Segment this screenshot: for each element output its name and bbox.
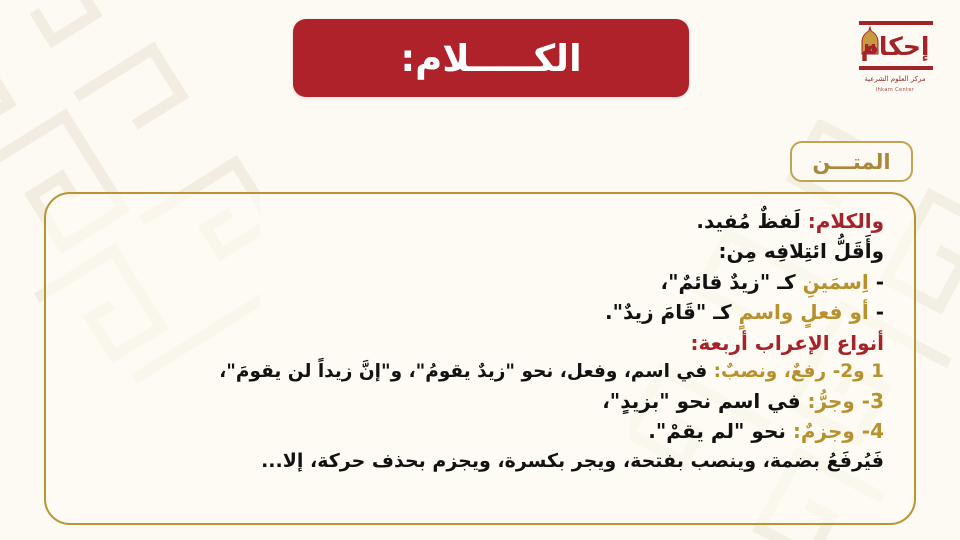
matn-segment: لَفظٌ مُفيد. — [696, 209, 800, 233]
matn-line-verb-and-noun: - أو فعلٍ واسمٍ كـ "قَامَ زيدٌ". — [64, 297, 884, 327]
matn-segment: اِسمَينِ — [803, 270, 869, 294]
section-tab-label: المتـــن — [812, 150, 890, 174]
section-tab-matn[interactable]: المتـــن — [790, 141, 913, 182]
matn-segment: والكلام: — [801, 209, 884, 233]
matn-segment: كـ "زيدٌ قائمٌ"، — [660, 270, 802, 294]
matn-line-irab-types-heading: أنواع الإعراب أربعة: — [64, 328, 884, 358]
matn-segment: فَيُرفَعُ بضمة، وينصب بفتحة، ويجر بكسرة،… — [261, 450, 884, 472]
logo-mark: إحكام — [853, 20, 937, 72]
matn-segment: 3- وجرُّ: — [808, 389, 884, 413]
matn-segment: أنواع الإعراب أربعة: — [691, 331, 884, 355]
matn-segment: أو فعلٍ واسمٍ — [739, 300, 869, 324]
matn-segment: - — [869, 300, 884, 324]
matn-segment: نحو "لم يقمْ". — [648, 419, 793, 443]
matn-segment: 4- وجزمٌ: — [793, 419, 884, 443]
matn-segment: في اسم نحو "بزيدٍ"، — [602, 389, 807, 413]
matn-line-composition-intro: وأَقَلُّ ائتِلافِه مِن: — [64, 236, 884, 266]
matn-content-box: والكلام: لَفظٌ مُفيد.وأَقَلُّ ائتِلافِه … — [44, 192, 916, 525]
matn-segment: 1 و2- رفعٌ، ونصبٌ: — [714, 361, 884, 382]
logo-subtitle-secondary: Ihkam Center — [876, 87, 915, 93]
matn-line-jarr: 3- وجرُّ: في اسم نحو "بزيدٍ"، — [64, 386, 884, 416]
logo-wordmark: إحكام — [853, 20, 937, 72]
page-title: الكـــــلام: — [400, 40, 581, 77]
brand-logo: إحكام مركز العلوم الشرعية Ihkam Center — [847, 20, 943, 98]
matn-line-definition: والكلام: لَفظٌ مُفيد. — [64, 206, 884, 236]
slide-canvas: الكـــــلام: إحكام مركز العلوم الشرعية I… — [0, 0, 960, 540]
matn-segment: في اسم، وفعل، نحو "زيدٌ يقومُ"، و"إنَّ ز… — [219, 361, 713, 382]
logo-subtitle: مركز العلوم الشرعية — [864, 75, 925, 84]
matn-line-raf-and-nasb: 1 و2- رفعٌ، ونصبٌ: في اسم، وفعل، نحو "زي… — [64, 358, 884, 386]
matn-segment: كـ "قَامَ زيدٌ". — [605, 300, 739, 324]
matn-line-summary: فَيُرفَعُ بضمة، وينصب بفتحة، ويجر بكسرة،… — [64, 447, 884, 476]
slide-title-banner: الكـــــلام: — [293, 19, 689, 97]
matn-line-two-nouns: - اِسمَينِ كـ "زيدٌ قائمٌ"، — [64, 267, 884, 297]
logo-rule-bottom — [859, 66, 933, 70]
matn-segment: وأَقَلُّ ائتِلافِه مِن: — [719, 239, 884, 263]
matn-segment: - — [869, 270, 884, 294]
matn-text-lines: والكلام: لَفظٌ مُفيد.وأَقَلُّ ائتِلافِه … — [64, 206, 884, 476]
matn-line-jazm: 4- وجزمٌ: نحو "لم يقمْ". — [64, 416, 884, 446]
